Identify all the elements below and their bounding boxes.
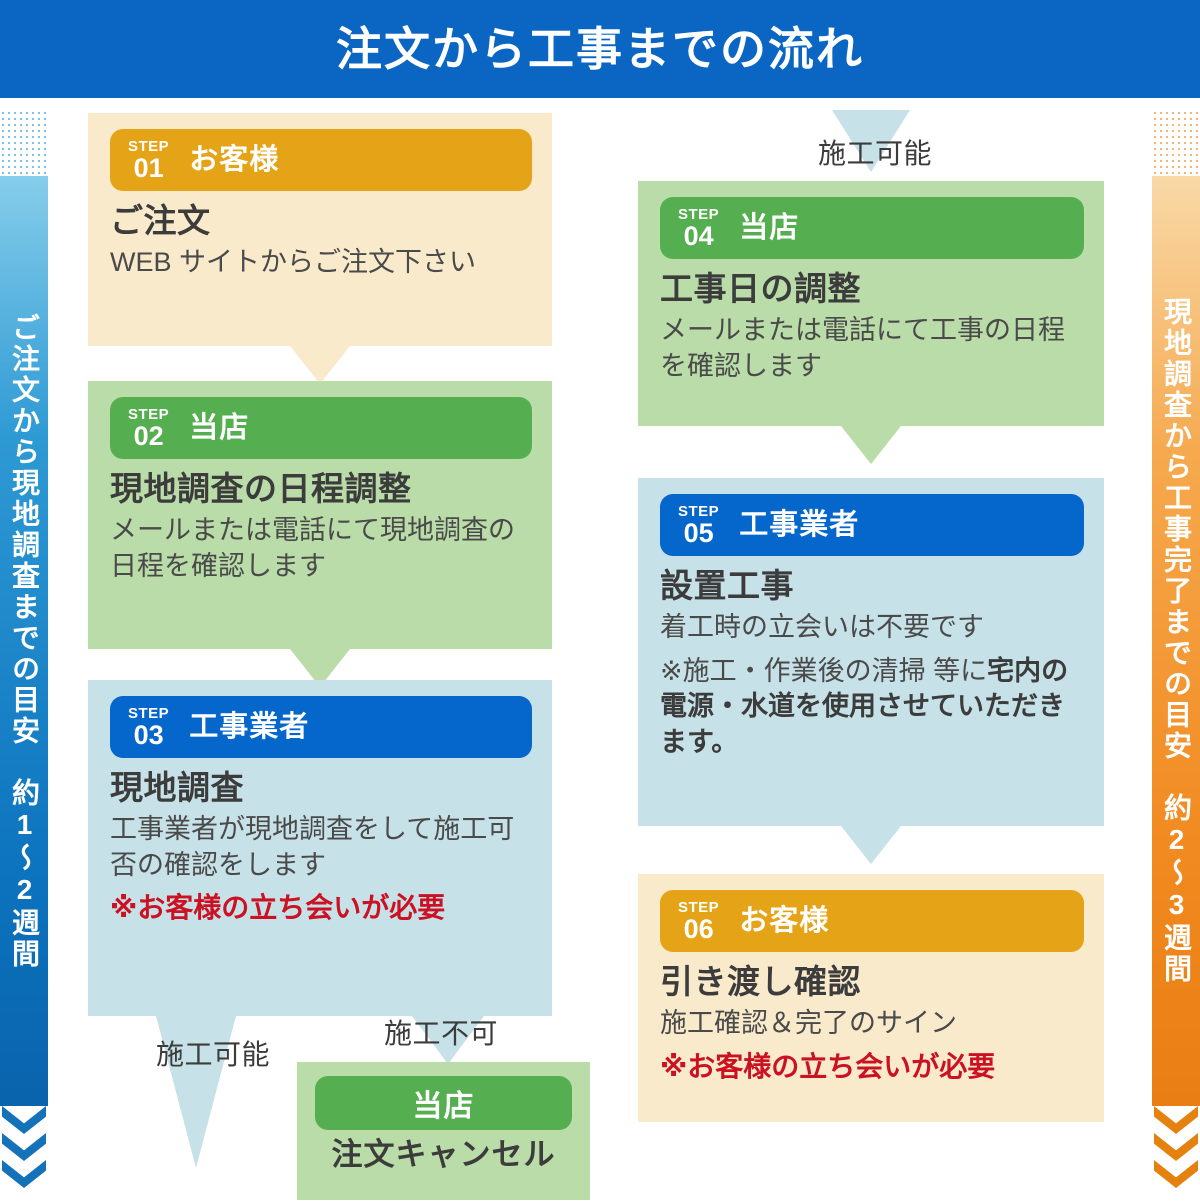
step-word-06: STEP	[678, 900, 719, 915]
step-badge-04: STEP 04 当店	[660, 197, 1084, 259]
right-timeline-rail: 現地調査から工事完了までの目安 約2〜3週間	[1152, 110, 1200, 1202]
step-num-01: 01	[134, 155, 164, 182]
cancel-actor-badge: 当店	[315, 1076, 572, 1130]
step-title-03: 現地調査	[110, 769, 532, 808]
step-title-05: 設置工事	[660, 567, 1084, 606]
cancel-label: 注文キャンセル	[315, 1138, 572, 1172]
step-actor-05: 工事業者	[739, 511, 859, 540]
step-card-01: STEP 01 お客様 ご注文 WEB サイトからご注文下さい	[88, 113, 552, 346]
step-card-04: STEP 04 当店 工事日の調整 メールまたは電話にて工事の日程を確認します	[638, 181, 1104, 426]
step-body-04: メールまたは電話にて工事の日程を確認します	[660, 313, 1084, 384]
step-num-06: 06	[684, 916, 714, 943]
left-rail-dots-decoration	[0, 110, 48, 176]
step-notch-04	[841, 426, 901, 464]
step-body-01: WEB サイトからご注文下さい	[110, 245, 532, 281]
right-rail-label: 現地調査から工事完了までの目安 約2〜3週間	[1162, 297, 1190, 985]
step-number-block-06: STEP 06	[678, 900, 719, 943]
step-number-block-01: STEP 01	[128, 139, 169, 182]
right-rail-dots-decoration	[1152, 110, 1200, 176]
step-word-05: STEP	[678, 504, 719, 519]
step-num-04: 04	[684, 223, 714, 250]
right-rail-bar: 現地調査から工事完了までの目安 約2〜3週間	[1152, 176, 1200, 1106]
step-body-03: 工事業者が現地調査をして施工可否の確認をします	[110, 812, 532, 883]
page-title: 注文から工事までの流れ	[336, 26, 864, 72]
step-actor-04: 当店	[739, 214, 799, 243]
step-number-block-04: STEP 04	[678, 207, 719, 250]
step-actor-06: お客様	[739, 907, 829, 936]
step-title-02: 現地調査の日程調整	[110, 470, 532, 509]
step-num-02: 02	[134, 423, 164, 450]
step-badge-06: STEP 06 お客様	[660, 890, 1084, 952]
step-body2-05: ※施工・作業後の清掃 等に宅内の電源・水道を使用させていただきます。	[660, 654, 1084, 761]
step-card-05: STEP 05 工事業者 設置工事 着工時の立会いは不要です ※施工・作業後の清…	[638, 478, 1104, 826]
step-body-05: 着工時の立会いは不要です	[660, 610, 1084, 646]
step-body-02: メールまたは電話にて現地調査の日程を確認します	[110, 513, 532, 584]
branch-label-ok-left: 施工可能	[156, 1041, 270, 1069]
flow-diagram-page: 注文から工事までの流れ ご注文から現地調査までの目安 約1〜2週間 現地調査から…	[0, 0, 1200, 1200]
right-rail-chevrons-icon	[1152, 1106, 1200, 1202]
left-timeline-rail: ご注文から現地調査までの目安 約1〜2週間	[0, 110, 48, 1202]
step-number-block-03: STEP 03	[128, 706, 169, 749]
step-actor-02: 当店	[189, 414, 249, 443]
step-word-04: STEP	[678, 207, 719, 222]
order-cancel-card: 当店 注文キャンセル	[297, 1062, 590, 1200]
step-card-03: STEP 03 工事業者 現地調査 工事業者が現地調査をして施工可否の確認をしま…	[88, 680, 552, 1016]
step-notch-05	[841, 826, 901, 864]
step-word-02: STEP	[128, 407, 169, 422]
step-number-block-02: STEP 02	[128, 407, 169, 450]
step-notch-01	[290, 346, 350, 384]
left-rail-chevrons-icon	[0, 1106, 48, 1202]
step-body-06: 施工確認＆完了のサイン	[660, 1006, 1084, 1042]
step-badge-03: STEP 03 工事業者	[110, 696, 532, 758]
step-actor-01: お客様	[189, 146, 279, 175]
step-word-03: STEP	[128, 706, 169, 721]
branch-label-ok-top-right: 施工可能	[818, 140, 932, 168]
step-title-06: 引き渡し確認	[660, 963, 1084, 1002]
step-word-01: STEP	[128, 139, 169, 154]
step-actor-03: 工事業者	[189, 713, 309, 742]
step-note-06: ※お客様の立ち会いが必要	[660, 1050, 1084, 1084]
step-badge-01: STEP 01 お客様	[110, 129, 532, 191]
left-rail-bar: ご注文から現地調査までの目安 約1〜2週間	[0, 176, 48, 1106]
step-title-04: 工事日の調整	[660, 270, 1084, 309]
step-body2-normal-05: ※施工・作業後の清掃 等に	[660, 656, 987, 686]
step-num-03: 03	[134, 722, 164, 749]
step-num-05: 05	[684, 520, 714, 547]
step-title-01: ご注文	[110, 202, 532, 241]
page-header: 注文から工事までの流れ	[0, 0, 1200, 98]
step-number-block-05: STEP 05	[678, 504, 719, 547]
branch-label-ng-right: 施工不可	[384, 1020, 498, 1048]
step-badge-05: STEP 05 工事業者	[660, 494, 1084, 556]
step-note-03: ※お客様の立ち会いが必要	[110, 891, 532, 925]
step-card-06: STEP 06 お客様 引き渡し確認 施工確認＆完了のサイン ※お客様の立ち会い…	[638, 874, 1104, 1122]
left-rail-label: ご注文から現地調査までの目安 約1〜2週間	[10, 313, 38, 970]
step-card-02: STEP 02 当店 現地調査の日程調整 メールまたは電話にて現地調査の日程を確…	[88, 381, 552, 649]
step-badge-02: STEP 02 当店	[110, 397, 532, 459]
